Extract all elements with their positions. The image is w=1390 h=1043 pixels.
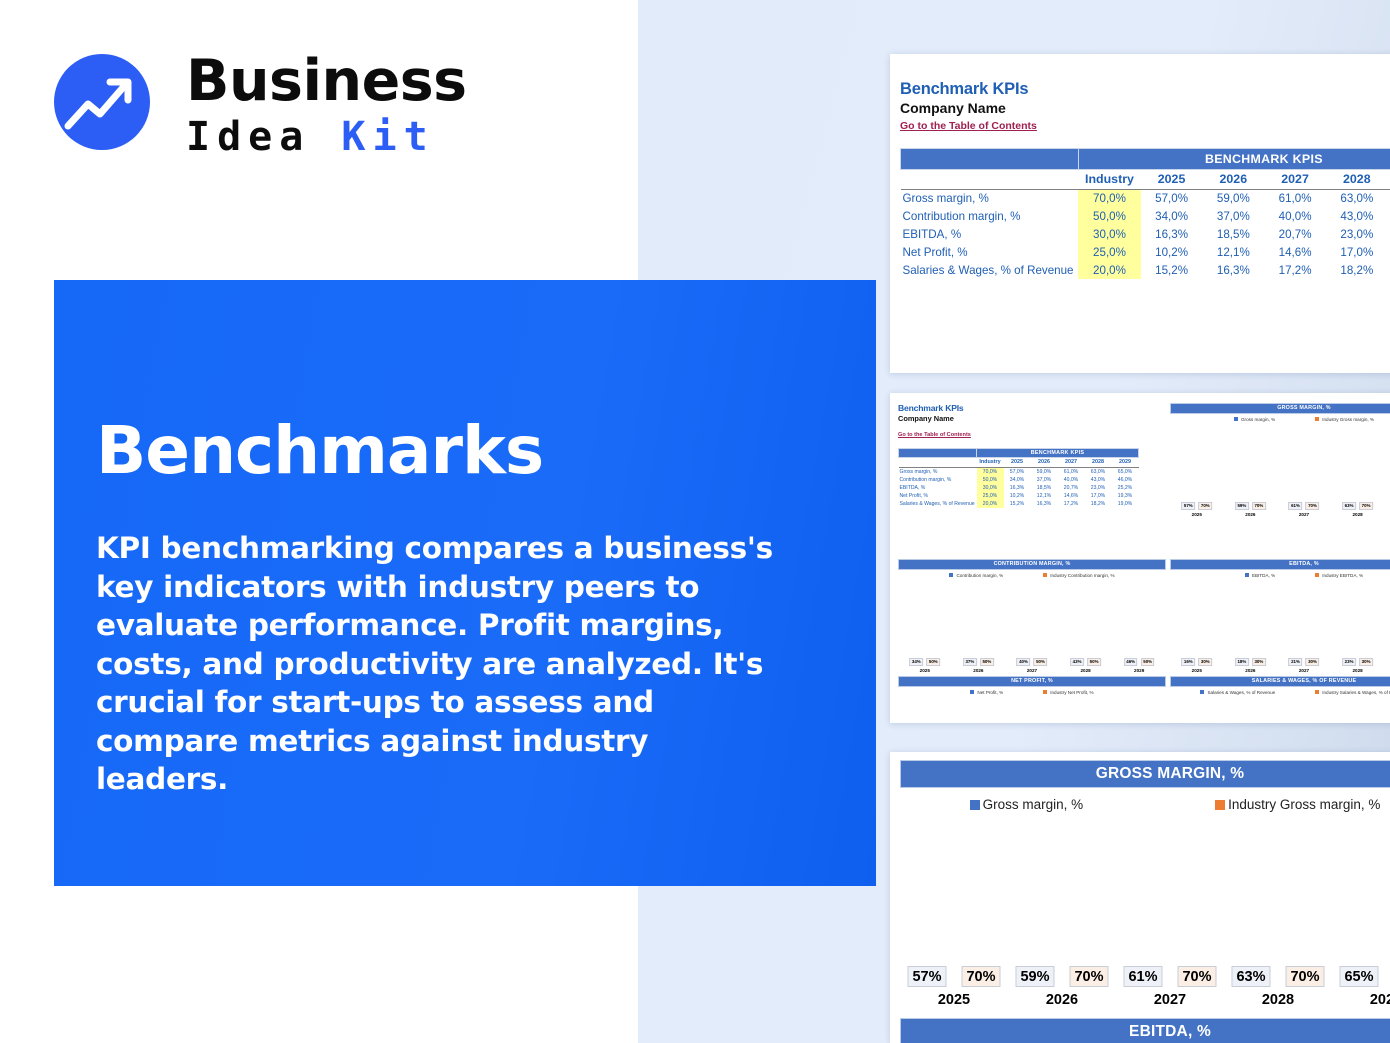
col-industry: Industry <box>1078 170 1140 190</box>
cell-industry: 30,0% <box>1078 226 1140 244</box>
chart-bar-label: 57% <box>1181 502 1195 510</box>
chart-bar-label: 43% <box>1070 658 1084 666</box>
chart-bar-label: 70% <box>1198 502 1212 510</box>
cell-2027: 20,7% <box>1264 226 1326 244</box>
chart-x-tick-label: 2025 <box>1170 668 1224 673</box>
col-2025: 2025 <box>1141 170 1203 190</box>
row-label: Salaries & Wages, % of Revenue <box>901 261 1079 279</box>
cell-2028: 63,0% <box>1085 467 1112 476</box>
chart-x-tick-label: 2029 <box>1332 992 1390 1008</box>
chart-title: NET PROFIT, % <box>898 676 1166 687</box>
table-band-label: BENCHMARK KPIS <box>1078 149 1390 170</box>
page-title: Benchmarks <box>96 415 776 487</box>
cell-2027: 61,0% <box>1264 190 1326 208</box>
cell-2027: 14,6% <box>1264 243 1326 261</box>
legend-swatch-icon <box>970 690 974 694</box>
mini-col-2029: 2029 <box>1112 458 1139 468</box>
mini-col-2025: 2025 <box>1004 458 1031 468</box>
chart-bar-label: 61% <box>1123 966 1162 987</box>
cell-2025: 10,2% <box>1141 243 1203 261</box>
chart-legend: Net Profit, % Industry Net Profit, % <box>898 690 1166 695</box>
chart-x-tick-label: 2026 <box>952 668 1006 673</box>
chart-x-tick-label: 2028 <box>1059 668 1113 673</box>
cell-2027: 40,0% <box>1264 208 1326 226</box>
chart-x-tick-label: 2027 <box>1277 512 1331 517</box>
chart-bar-label: 63% <box>1342 502 1356 510</box>
cell-2028: 63,0% <box>1326 190 1388 208</box>
brand-name-line2: Idea Kit <box>186 114 467 160</box>
cell-industry: 20,0% <box>977 500 1004 508</box>
cell-2028: 43,0% <box>1085 476 1112 484</box>
cell-2025: 57,0% <box>1141 190 1203 208</box>
chart-bar-label: 70% <box>1306 502 1320 510</box>
cell-2029: 19,0% <box>1112 500 1139 508</box>
legend-swatch-icon <box>1215 800 1225 810</box>
chart-bar-label: 30% <box>1359 658 1373 666</box>
chart-x-tick-label: 2026 <box>1008 992 1116 1008</box>
row-label: Salaries & Wages, % of Revenue <box>899 500 977 508</box>
chart-x-tick-label: 2029 <box>1384 512 1390 517</box>
mini-benchmark-table: BENCHMARK KPIS Industry 2025 2026 2027 2… <box>898 448 1139 508</box>
chart-bar-label: 30% <box>1198 658 1212 666</box>
chart-title: CONTRIBUTION MARGIN, % <box>898 559 1166 570</box>
legend-swatch-icon <box>1315 417 1319 421</box>
chart-title-gross-margin: GROSS MARGIN, % <box>900 760 1390 788</box>
chart-x-axis: 20252026202720282029 <box>900 992 1390 1008</box>
cell-2026: 18,5% <box>1031 484 1058 492</box>
table-of-contents-link[interactable]: Go to the Table of Contents <box>900 120 1037 132</box>
cell-industry: 50,0% <box>1078 208 1140 226</box>
mini-col-2026: 2026 <box>1031 458 1058 468</box>
cell-2028: 17,0% <box>1326 243 1388 261</box>
mini-kpi-table-cell: Benchmark KPIs Company Name Go to the Ta… <box>898 403 1166 555</box>
hero-copy: Benchmarks KPI benchmarking compares a b… <box>96 415 776 799</box>
chart-x-tick-label: 2027 <box>1005 668 1059 673</box>
chart-plot-area: 16%30%18%30%21%30%23%30%25%30% <box>1170 578 1390 666</box>
chart-x-tick-label: 2027 <box>1116 992 1224 1008</box>
chart-title: GROSS MARGIN, % <box>1170 403 1390 414</box>
cell-2025: 15,2% <box>1141 261 1203 279</box>
chart-bar-label: 30% <box>1252 658 1266 666</box>
cell-2026: 59,0% <box>1202 190 1264 208</box>
legend-swatch-icon <box>1315 690 1319 694</box>
chart-bar-label: 59% <box>1015 966 1054 987</box>
cell-2025: 34,0% <box>1141 208 1203 226</box>
cell-industry: 20,0% <box>1078 261 1140 279</box>
cell-industry: 25,0% <box>977 492 1004 500</box>
row-label: EBITDA, % <box>899 484 977 492</box>
cell-industry: 70,0% <box>1078 190 1140 208</box>
cell-2029: 46,0% <box>1112 476 1139 484</box>
chart-bar-label: 37% <box>963 658 977 666</box>
cell-2026: 37,0% <box>1031 476 1058 484</box>
brand-name-line1: Business <box>186 50 467 112</box>
mini-col-industry: Industry <box>977 458 1004 468</box>
legend-swatch-icon <box>970 800 980 810</box>
brand-logo: Business Idea Kit <box>54 50 474 162</box>
cell-2026: 18,5% <box>1202 226 1264 244</box>
table-row: Salaries & Wages, % of Revenue 20,0% 15,… <box>901 261 1390 279</box>
cell-2027: 20,7% <box>1058 484 1085 492</box>
sheet-company-name: Company Name <box>900 100 1390 116</box>
table-row: Contribution margin, % 50,0% 34,0% 37,0%… <box>901 208 1390 226</box>
brand-idea-word: Idea <box>186 114 310 160</box>
cell-2026: 16,3% <box>1031 500 1058 508</box>
chart-bar-label: 70% <box>1285 966 1324 987</box>
cell-2026: 12,1% <box>1031 492 1058 500</box>
row-label: EBITDA, % <box>901 226 1079 244</box>
cell-2028: 43,0% <box>1326 208 1388 226</box>
chart-plot-area: 57%70%59%70%61%70%63%70%65%70% <box>1170 422 1390 510</box>
chart-bar-label: 50% <box>1034 658 1048 666</box>
cell-industry: 50,0% <box>977 476 1004 484</box>
table-row: Gross margin, % 70,0% 57,0% 59,0% 61,0% … <box>901 190 1390 208</box>
row-label: Gross margin, % <box>899 467 977 476</box>
cell-2025: 10,2% <box>1004 492 1031 500</box>
table-row: Net Profit, % 25,0% 10,2% 12,1% 14,6% 17… <box>901 243 1390 261</box>
mini-col-2027: 2027 <box>1058 458 1085 468</box>
chart-x-axis: 20252026202720282029 <box>898 668 1166 673</box>
chart-bar-label: 70% <box>1359 502 1373 510</box>
benchmark-kpi-table: BENCHMARK KPIS Industry 2025 2026 2027 2… <box>900 148 1390 279</box>
chart-bar-label: 50% <box>980 658 994 666</box>
chart-title: SALARIES & WAGES, % OF REVENUE <box>1170 676 1390 687</box>
cell-2026: 59,0% <box>1031 467 1058 476</box>
chart-bar-label: 59% <box>1235 502 1249 510</box>
legend-swatch-icon <box>1315 573 1319 577</box>
table-row: EBITDA, % 30,0% 16,3% 18,5% 20,7% 23,0% … <box>901 226 1390 244</box>
table-band-row: BENCHMARK KPIS <box>901 149 1390 170</box>
chart-x-axis: 20252026202720282029 <box>1170 668 1390 673</box>
chart-x-tick-label: 2026 <box>1224 512 1278 517</box>
row-label: Contribution margin, % <box>901 208 1079 226</box>
cell-industry: 70,0% <box>977 467 1004 476</box>
dashboard-preview-panel[interactable]: Benchmark KPIs Company Name Go to the Ta… <box>890 393 1390 723</box>
chart-bar-label: 70% <box>1069 966 1108 987</box>
mini-sheet-title: Benchmark KPIs <box>898 403 1166 413</box>
cell-2026: 16,3% <box>1202 261 1264 279</box>
chart-bar-label: 21% <box>1289 658 1303 666</box>
chart-plot-area: 34%50%37%50%40%50%43%50%46%50% <box>898 578 1166 666</box>
cell-2028: 18,2% <box>1326 261 1388 279</box>
chart-bar-label: 70% <box>1177 966 1216 987</box>
chart-preview-panel[interactable]: GROSS MARGIN, % Gross margin, % Industry… <box>890 752 1390 1043</box>
mini-col-2028: 2028 <box>1085 458 1112 468</box>
chart-bar-label: 16% <box>1181 658 1195 666</box>
chart-x-tick-label: 2025 <box>900 992 1008 1008</box>
cell-2025: 16,3% <box>1141 226 1203 244</box>
cell-2025: 34,0% <box>1004 476 1031 484</box>
chart-x-tick-label: 2029 <box>1112 668 1166 673</box>
cell-2029: 65,0% <box>1112 467 1139 476</box>
chart-bar-label: 50% <box>926 658 940 666</box>
legend-swatch-icon <box>1043 690 1047 694</box>
chart-x-tick-label: 2025 <box>1170 512 1224 517</box>
chart-x-tick-label: 2028 <box>1224 992 1332 1008</box>
mini-chart-gross-margin[interactable]: GROSS MARGIN, % Gross margin, % Industry… <box>1170 403 1390 555</box>
chart-bar-label: 70% <box>961 966 1000 987</box>
chart-bar-label: 61% <box>1289 502 1303 510</box>
cell-industry: 25,0% <box>1078 243 1140 261</box>
chart-legend: Salaries & Wages, % of Revenue Industry … <box>1170 690 1390 695</box>
cell-2026: 37,0% <box>1202 208 1264 226</box>
chart-bar-label: 50% <box>1087 658 1101 666</box>
legend-swatch-icon <box>1234 417 1238 421</box>
mini-table-row: Salaries & Wages, % of Revenue 20,0% 15,… <box>899 500 1139 508</box>
legend-label: Gross margin, % <box>983 797 1084 812</box>
row-label: Contribution margin, % <box>899 476 977 484</box>
cell-2027: 17,2% <box>1058 500 1085 508</box>
cell-2025: 16,3% <box>1004 484 1031 492</box>
chart-bar-label: 65% <box>1339 966 1378 987</box>
cell-2026: 12,1% <box>1202 243 1264 261</box>
chart-x-tick-label: 2029 <box>1384 668 1390 673</box>
mini-table-row: Contribution margin, % 50,0% 34,0% 37,0%… <box>899 476 1139 484</box>
table-header-row: Industry 2025 2026 2027 2028 2029 <box>901 170 1390 190</box>
cell-2029: 19,3% <box>1112 492 1139 500</box>
chart-bar-label: 57% <box>907 966 946 987</box>
chart-bar-label: 18% <box>1235 658 1249 666</box>
mini-chart-contribution-margin[interactable]: CONTRIBUTION MARGIN, % Contribution marg… <box>898 559 1166 711</box>
chart-bar-label: 40% <box>1017 658 1031 666</box>
mini-chart-ebitda[interactable]: EBITDA, % EBITDA, % Industry EBITDA, % 1… <box>1170 559 1390 711</box>
chart-plot-area: 57%70%59%70%61%70%63%70%65%70% <box>900 828 1390 987</box>
cell-2027: 40,0% <box>1058 476 1085 484</box>
growth-arrow-icon <box>54 54 150 150</box>
chart-x-axis: 20252026202720282029 <box>1170 512 1390 517</box>
col-2027: 2027 <box>1264 170 1326 190</box>
mini-table-row: Gross margin, % 70,0% 57,0% 59,0% 61,0% … <box>899 467 1139 476</box>
chart-legend: Gross margin, % Industry Gross margin, % <box>900 797 1390 812</box>
col-2026: 2026 <box>1202 170 1264 190</box>
chart-bar-label: 46% <box>1124 658 1138 666</box>
mini-toc-link[interactable]: Go to the Table of Contents <box>898 432 971 438</box>
legend-swatch-icon <box>1245 573 1249 577</box>
legend-label: Net Profit, % <box>977 690 1003 695</box>
legend-swatch-icon <box>1200 690 1204 694</box>
cell-2027: 17,2% <box>1264 261 1326 279</box>
chart-bar-label: 70% <box>1252 502 1266 510</box>
chart-bar-label: 30% <box>1306 658 1320 666</box>
cell-industry: 30,0% <box>977 484 1004 492</box>
legend-label: Industry Salaries & Wages, % of Revenue <box>1322 690 1390 695</box>
chart-x-tick-label: 2028 <box>1331 512 1385 517</box>
cell-2025: 15,2% <box>1004 500 1031 508</box>
mini-table-row: Net Profit, % 25,0% 10,2% 12,1% 14,6% 17… <box>899 492 1139 500</box>
mini-table-row: EBITDA, % 30,0% 16,3% 18,5% 20,7% 23,0% … <box>899 484 1139 492</box>
chart-x-tick-label: 2026 <box>1224 668 1278 673</box>
mini-band-label: BENCHMARK KPIS <box>977 449 1139 458</box>
row-label: Net Profit, % <box>901 243 1079 261</box>
brand-kit-word: Kit <box>341 114 434 160</box>
spreadsheet-preview-panel[interactable]: Benchmark KPIs Company Name Go to the Ta… <box>890 54 1390 373</box>
sheet-title: Benchmark KPIs <box>900 80 1390 99</box>
chart-x-tick-label: 2028 <box>1331 668 1385 673</box>
chart-title: EBITDA, % <box>1170 559 1390 570</box>
dashboard-grid: Benchmark KPIs Company Name Go to the Ta… <box>898 403 1390 715</box>
cell-2028: 23,0% <box>1085 484 1112 492</box>
col-2028: 2028 <box>1326 170 1388 190</box>
legend-label: Salaries & Wages, % of Revenue <box>1207 690 1275 695</box>
chart-bar-label: 63% <box>1231 966 1270 987</box>
cell-2028: 23,0% <box>1326 226 1388 244</box>
cell-2028: 18,2% <box>1085 500 1112 508</box>
chart-x-tick-label: 2025 <box>898 668 952 673</box>
row-label: Net Profit, % <box>899 492 977 500</box>
chart-bar-label: 34% <box>909 658 923 666</box>
legend-label: Industry Gross margin, % <box>1228 797 1380 812</box>
mini-sheet-company: Company Name <box>898 414 1166 423</box>
chart-x-tick-label: 2027 <box>1277 668 1331 673</box>
cell-2028: 17,0% <box>1085 492 1112 500</box>
slide-canvas: Business Idea Kit Benchmarks KPI benchma… <box>0 0 1390 1043</box>
cell-2027: 14,6% <box>1058 492 1085 500</box>
chart-bar-label: 23% <box>1342 658 1356 666</box>
cell-2025: 57,0% <box>1004 467 1031 476</box>
row-label: Gross margin, % <box>901 190 1079 208</box>
chart-bar-label: 50% <box>1141 658 1155 666</box>
legend-label: Industry Net Profit, % <box>1050 690 1093 695</box>
cell-2029: 25,2% <box>1112 484 1139 492</box>
legend-swatch-icon <box>949 573 953 577</box>
chart-title-ebitda: EBITDA, % <box>900 1018 1390 1043</box>
legend-swatch-icon <box>1043 573 1047 577</box>
hero-description: KPI benchmarking compares a business's k… <box>96 529 776 799</box>
cell-2027: 61,0% <box>1058 467 1085 476</box>
